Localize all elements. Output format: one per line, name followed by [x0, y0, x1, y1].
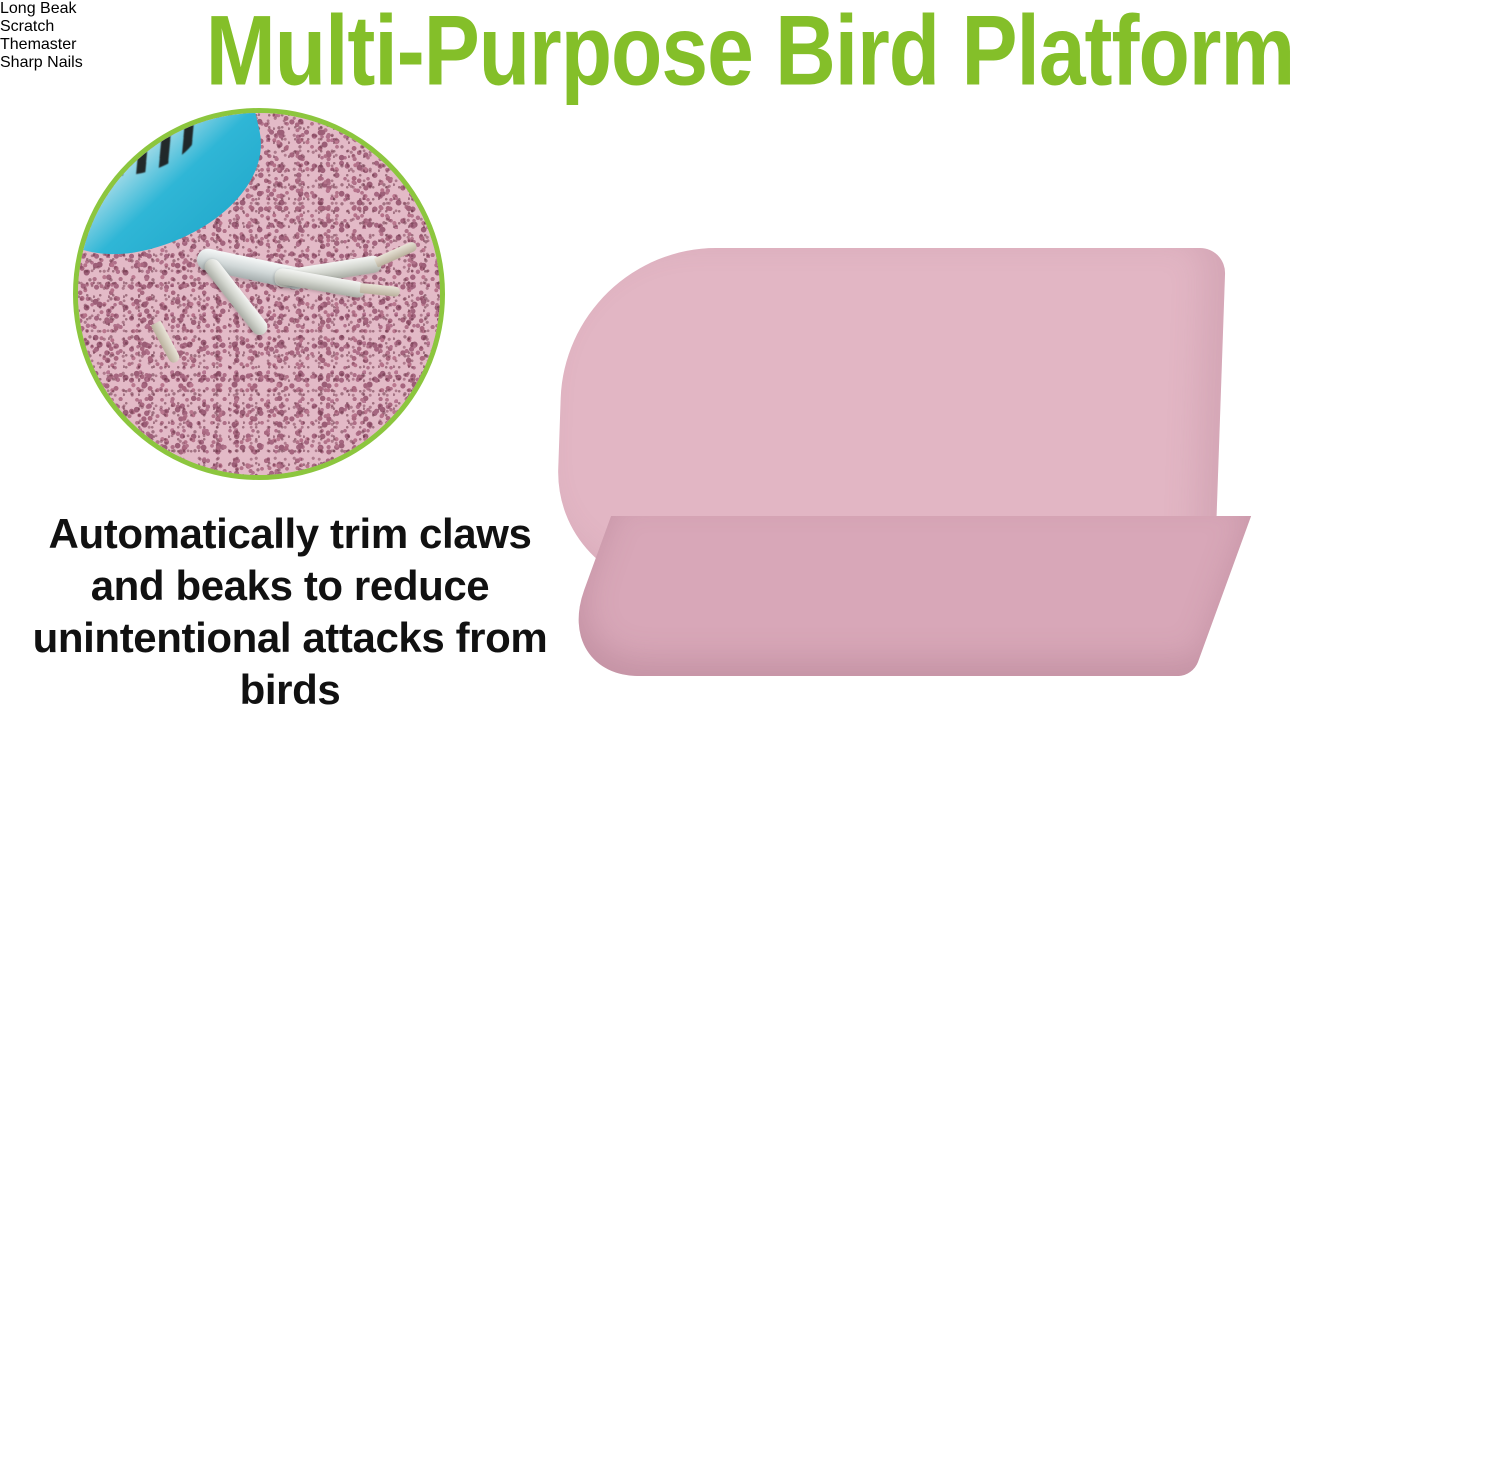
page-title: Multi-Purpose Bird Platform	[0, 0, 1500, 105]
perch-front-face	[553, 516, 1251, 676]
pumice-perch-platform	[560, 248, 1250, 760]
pumice-pores	[553, 516, 1251, 676]
hero-product-photo	[530, 100, 1490, 760]
inset-circle-image	[73, 108, 445, 480]
inset-caption: Automatically trim claws and beaks to re…	[14, 508, 566, 716]
